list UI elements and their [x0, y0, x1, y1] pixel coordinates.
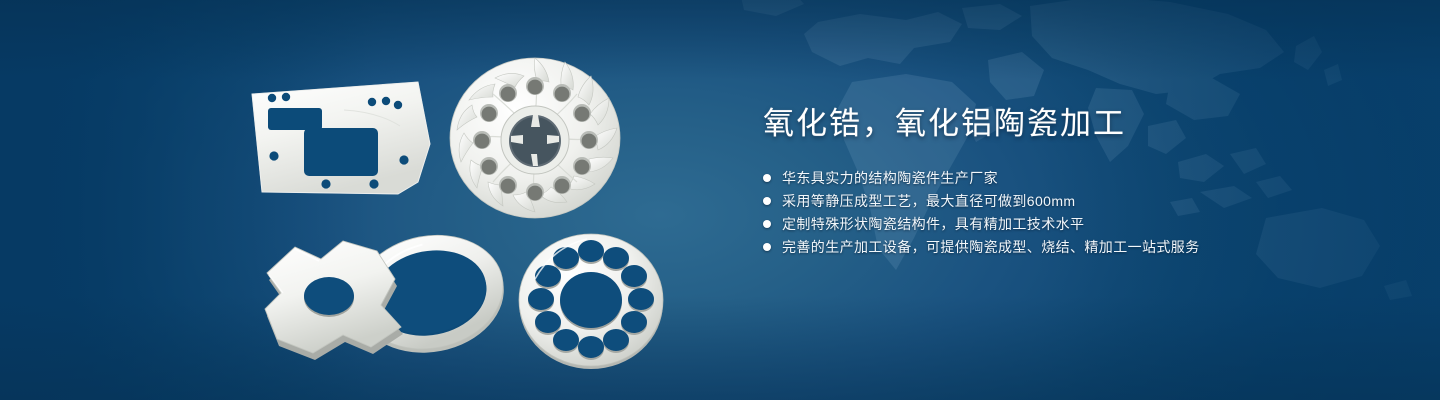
ceramic-impeller-disc	[447, 52, 623, 222]
feature-text: 采用等静压成型工艺，最大直径可做到600mm	[782, 191, 1075, 211]
ceramic-plate-rectangular	[248, 80, 434, 198]
list-item: 完善的生产加工设备，可提供陶瓷成型、烧结、精加工一站式服务	[763, 235, 1363, 258]
banner-headline: 氧化锆，氧化铝陶瓷加工	[763, 104, 1363, 144]
ceramic-cross-plate	[255, 235, 440, 360]
ceramic-perforated-disc	[515, 231, 667, 371]
feature-list: 华东具实力的结构陶瓷件生产厂家 采用等静压成型工艺，最大直径可做到600mm 定…	[763, 166, 1363, 258]
bullet-dot-icon	[763, 174, 771, 182]
feature-text: 定制特殊形状陶瓷结构件，具有精加工技术水平	[782, 214, 1084, 234]
bullet-dot-icon	[763, 243, 771, 251]
feature-text: 华东具实力的结构陶瓷件生产厂家	[782, 168, 998, 188]
product-photo-group	[0, 0, 720, 400]
bullet-dot-icon	[763, 220, 771, 228]
list-item: 定制特殊形状陶瓷结构件，具有精加工技术水平	[763, 212, 1363, 235]
feature-text: 完善的生产加工设备，可提供陶瓷成型、烧结、精加工一站式服务	[782, 237, 1200, 257]
list-item: 华东具实力的结构陶瓷件生产厂家	[763, 166, 1363, 189]
banner-copy: 氧化锆，氧化铝陶瓷加工 华东具实力的结构陶瓷件生产厂家 采用等静压成型工艺，最大…	[763, 104, 1363, 258]
list-item: 采用等静压成型工艺，最大直径可做到600mm	[763, 189, 1363, 212]
promo-banner: 氧化锆，氧化铝陶瓷加工 华东具实力的结构陶瓷件生产厂家 采用等静压成型工艺，最大…	[0, 0, 1440, 400]
bullet-dot-icon	[763, 197, 771, 205]
